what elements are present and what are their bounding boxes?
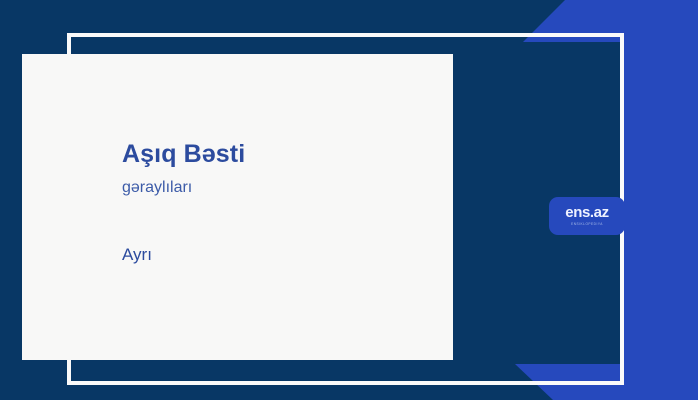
ens-az-tagline: ENSIKLOPEDIYA [571, 223, 603, 226]
card-text-block: Aşıq Bəsti gəraylıları Ayrı [122, 140, 429, 265]
accent-panel-right [623, 0, 698, 400]
poster-canvas: Aşıq Bəsti gəraylıları Ayrı ens.az ENSIK… [0, 0, 698, 400]
ens-az-wordmark: ens.az [565, 205, 608, 220]
page-title: Aşıq Bəsti [122, 140, 429, 169]
ens-az-logo-badge[interactable]: ens.az ENSIKLOPEDIYA [549, 197, 625, 235]
page-subtitle: gəraylıları [122, 178, 429, 197]
content-card: Aşıq Bəsti gəraylıları Ayrı [22, 54, 453, 360]
poem-title: Ayrı [122, 245, 429, 265]
